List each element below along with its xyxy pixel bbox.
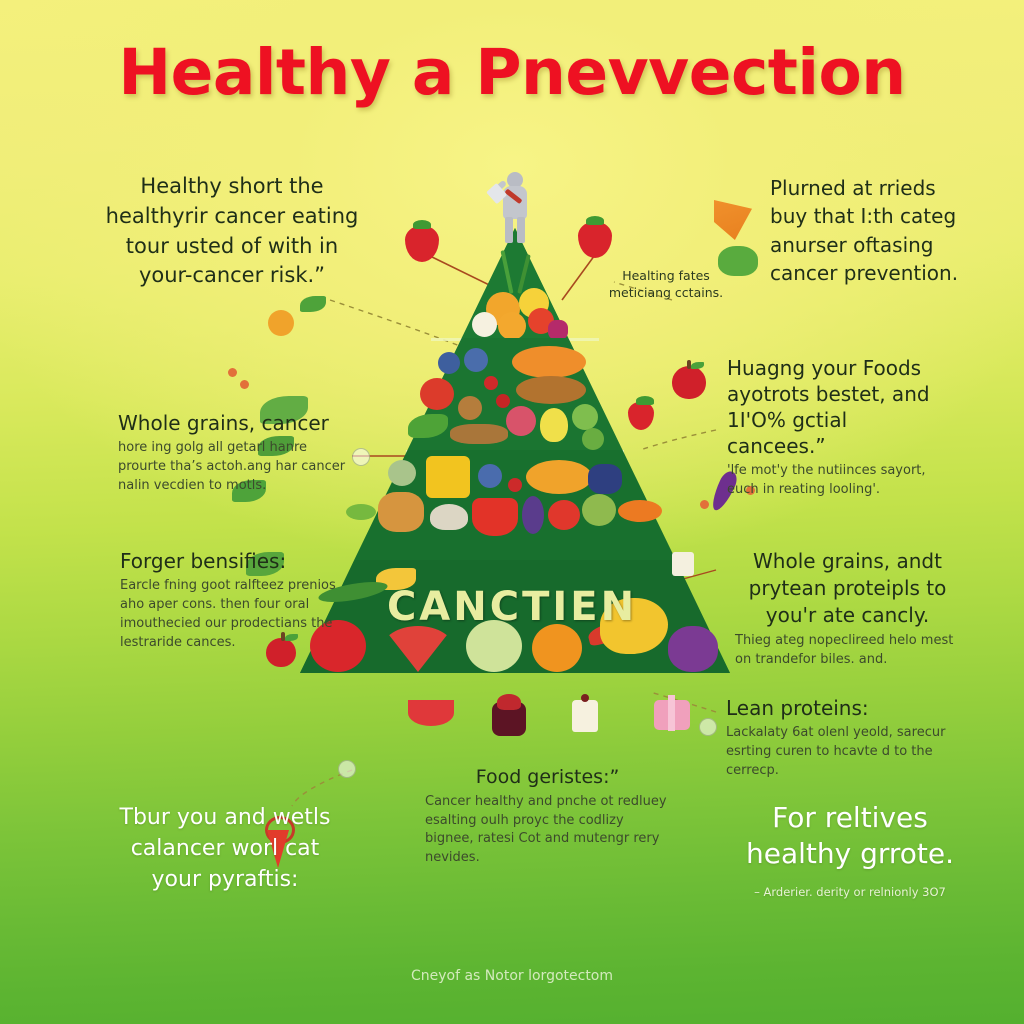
bread-loaf-icon	[516, 376, 586, 404]
blueberry-icon	[438, 352, 460, 374]
callout-top-right: Plurned at rrieds buy that I:th categ an…	[770, 174, 970, 288]
callout-right-middle: Huagng your Foods ayotrots bestet, and 1…	[727, 355, 942, 500]
avocado-icon	[582, 494, 616, 526]
orange-slice-icon	[268, 310, 294, 336]
apex-note: Healting fates meticiang cctains.	[596, 268, 736, 302]
pomegranate-icon	[506, 406, 536, 436]
orange-icon	[498, 312, 526, 340]
marker-dot	[699, 718, 717, 736]
person-figure-icon	[492, 172, 538, 244]
callout-right-middle-body: 'lfe mot'y the nutiinces sayort, euch in…	[727, 462, 942, 500]
callout-left-bottom-heading: Forger bensifies:	[120, 548, 345, 574]
infographic-poster: Healthy a Pnevvection	[0, 0, 1024, 1024]
callout-left-bottom: Forger bensifies: Earcle fning goot ralf…	[120, 548, 345, 652]
cherry-icon	[496, 394, 510, 408]
callout-left-middle-body: hore ing golg all getarl hanre prourte t…	[118, 439, 348, 496]
apple-icon	[672, 366, 706, 399]
corn-icon	[426, 456, 470, 498]
jam-jar-icon	[492, 702, 526, 736]
callout-food-garistes-body: Cancer healthy and pnche ot redluey esal…	[425, 793, 670, 868]
garlic-icon	[472, 312, 497, 337]
cheese-icon	[672, 552, 694, 576]
callout-left-bottom-body: Earcle fning goot ralfteez prenios aho a…	[120, 577, 345, 652]
ginger-icon	[378, 492, 424, 532]
broccoli-icon	[582, 428, 604, 450]
watermelon-slice-icon	[408, 700, 454, 726]
callout-left-middle-heading: Whole grains, cancer	[118, 410, 348, 436]
squash-icon	[526, 460, 592, 494]
callout-right-bottom-body: Thieg ateg nopeclireed helo mest on tran…	[735, 632, 960, 670]
marker-dot	[352, 448, 370, 466]
meat-package-icon	[654, 700, 690, 730]
callout-right-bottom-heading: Whole grains, andt prytean proteipls to …	[735, 548, 960, 629]
cherry-icon	[484, 376, 498, 390]
blackberry-icon	[588, 464, 622, 494]
callout-left-middle: Whole grains, cancer hore ing golg all g…	[118, 410, 348, 496]
cherry-icon	[508, 478, 522, 492]
tomato-icon	[420, 378, 454, 410]
bell-pepper-icon	[472, 498, 518, 536]
callout-food-garistes: Food geristes:” Cancer healthy and pnche…	[425, 765, 670, 868]
figure-leg	[505, 217, 513, 243]
callout-bottom-left: Tbur you and wetls calancer worl cat you…	[115, 802, 335, 896]
berry-icon	[700, 500, 709, 509]
figure-leg	[517, 217, 525, 243]
callout-top-left: Healthy short the healthyrir cancer eati…	[98, 172, 366, 291]
tomato-icon	[548, 500, 580, 530]
cauliflower-icon	[388, 460, 416, 486]
callout-bottom-right: For reltives healthy grrote. – Arderier.…	[735, 800, 965, 899]
milk-carton-icon	[572, 700, 598, 732]
eggplant-icon	[522, 496, 544, 534]
pear-icon	[540, 408, 568, 442]
callout-food-garistes-heading: Food geristes:”	[425, 765, 670, 790]
poster-footer: Cneyof as Notor lorgotectom	[0, 968, 1024, 984]
callout-right-middle-heading: Huagng your Foods ayotrots bestet, and 1…	[727, 355, 942, 459]
berry-icon	[240, 380, 249, 389]
page-title: Healthy a Pnevvection	[0, 36, 1024, 109]
garlic-icon	[430, 504, 468, 530]
grapes-icon	[668, 626, 718, 672]
green-bean-icon	[346, 504, 376, 520]
broccoli-icon	[718, 246, 758, 276]
nuts-icon	[450, 424, 508, 444]
callout-bottom-right-sub: – Arderier. derity or relnionly 3O7	[735, 885, 965, 899]
carrot-icon	[618, 500, 662, 522]
blueberry-icon	[464, 348, 488, 372]
broccoli-icon	[572, 404, 598, 430]
callout-bottom-right-heading: For reltives healthy grrote.	[735, 800, 965, 873]
melon-icon	[512, 346, 586, 378]
blueberry-icon	[478, 464, 502, 488]
callout-lean-proteins-body: Lackalaty 6at olenl yeold, sarecur esrti…	[726, 724, 951, 781]
marker-dot	[338, 760, 356, 778]
potato-icon	[458, 396, 482, 420]
berry-icon	[228, 368, 237, 377]
callout-lean-proteins-heading: Lean proteins:	[726, 695, 951, 721]
callout-right-bottom: Whole grains, andt prytean proteipls to …	[735, 548, 960, 670]
orange-slice-icon	[532, 624, 582, 672]
callout-lean-proteins: Lean proteins: Lackalaty 6at olenl yeold…	[726, 695, 951, 781]
raspberry-icon	[548, 320, 568, 340]
